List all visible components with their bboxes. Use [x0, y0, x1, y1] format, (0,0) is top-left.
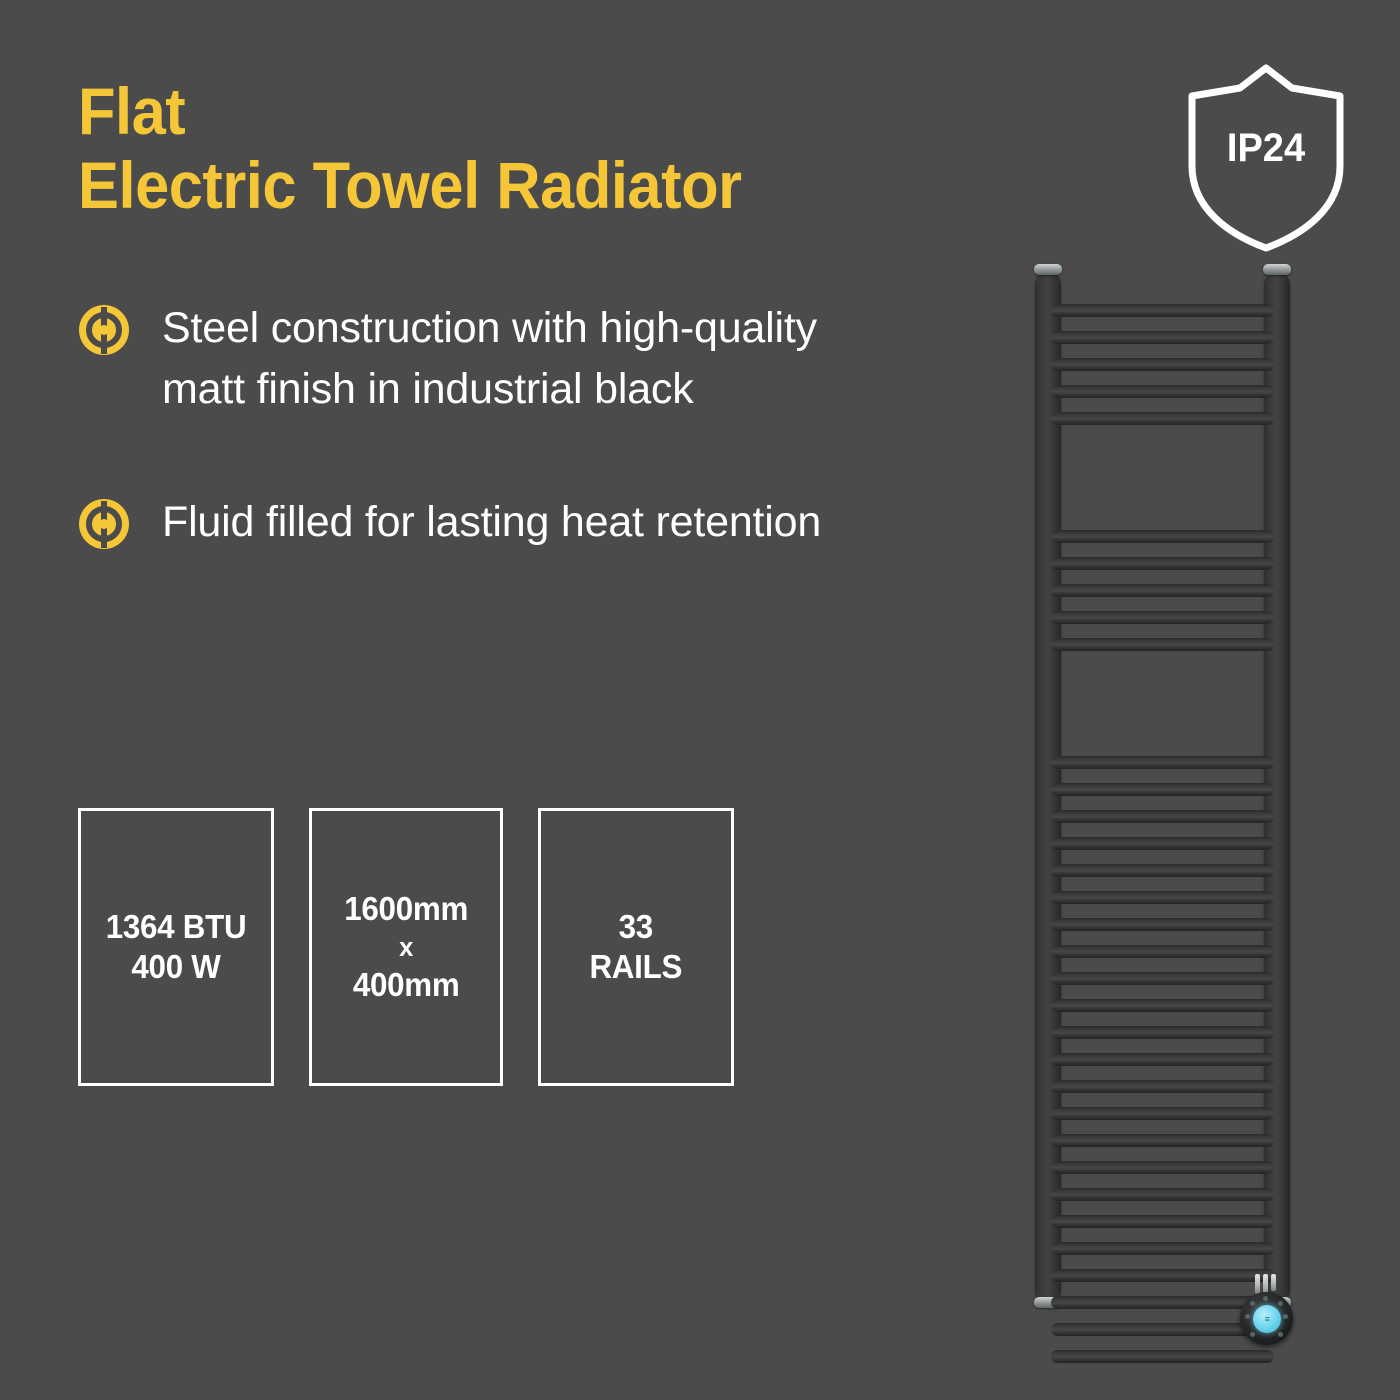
target-bullet-icon [78, 304, 130, 356]
spec-box-dimensions: 1600mm x 400mm [309, 808, 503, 1086]
thermostat-element-icon: ≡ [1235, 1274, 1297, 1352]
radiator-rail [1051, 999, 1274, 1012]
ip-rating-label: IP24 [1186, 126, 1346, 171]
spec-box-rails: 33 RAILS [538, 808, 734, 1086]
radiator-rail [1051, 783, 1274, 796]
radiator-rail [1051, 837, 1274, 850]
radiator-rail [1051, 1026, 1274, 1039]
radiator-rail [1051, 1080, 1274, 1093]
feature-item: Fluid filled for lasting heat retention [78, 492, 878, 553]
spec-line: 400 W [106, 947, 247, 987]
element-prong [1271, 1274, 1276, 1291]
radiator-rail [1051, 972, 1274, 985]
radiator-rail [1051, 358, 1274, 371]
target-bullet-icon [78, 498, 130, 550]
spec-line: 1600mm [344, 889, 468, 929]
thermostat-display: ≡ [1253, 1305, 1281, 1333]
infographic-canvas: Flat Electric Towel Radiator IP24 Steel … [0, 0, 1400, 1400]
radiator-rail [1051, 1215, 1274, 1228]
spec-line: x [344, 929, 468, 965]
spec-line: 33 [590, 907, 683, 947]
thermostat-dot [1283, 1314, 1288, 1319]
spec-box-group: 1364 BTU 400 W 1600mm x 400mm 33 RAILS [78, 808, 734, 1086]
radiator-rail [1051, 385, 1274, 398]
radiator-rail [1051, 1188, 1274, 1201]
radiator-rail [1051, 611, 1274, 624]
spec-box-output: 1364 BTU 400 W [78, 808, 274, 1086]
radiator-rail [1051, 891, 1274, 904]
radiator-rail [1051, 557, 1274, 570]
title-line-2: Electric Towel Radiator [78, 148, 896, 222]
feature-text: Fluid filled for lasting heat retention [162, 492, 821, 553]
radiator-rail [1051, 756, 1274, 769]
feature-list: Steel construction with high-quality mat… [78, 298, 878, 625]
radiator-rail [1051, 331, 1274, 344]
radiator-rail [1051, 1242, 1274, 1255]
radiator-rail [1051, 1134, 1274, 1147]
radiator-rail [1051, 1053, 1274, 1066]
radiator-rail [1051, 530, 1274, 543]
spec-line: 400mm [344, 965, 468, 1005]
element-prong [1255, 1274, 1260, 1294]
spec-line: 1364 BTU [106, 907, 247, 947]
radiator-rail [1051, 918, 1274, 931]
radiator-rail [1051, 638, 1274, 651]
radiator-rail [1051, 810, 1274, 823]
radiator-rail [1051, 864, 1274, 877]
radiator-cap-top-right [1263, 264, 1291, 275]
radiator-rail [1051, 412, 1274, 425]
feature-text: Steel construction with high-quality mat… [162, 298, 822, 420]
thermostat-dot [1263, 1296, 1268, 1301]
radiator-rail [1051, 945, 1274, 958]
spec-line: RAILS [590, 947, 683, 987]
radiator-rail [1051, 1161, 1274, 1174]
radiator-cap-top-left [1034, 264, 1062, 275]
thermostat-dot [1245, 1314, 1250, 1319]
title-line-1: Flat [78, 74, 896, 148]
thermostat-head: ≡ [1240, 1292, 1293, 1345]
page-title: Flat Electric Towel Radiator [78, 74, 958, 222]
radiator-rail [1051, 1107, 1274, 1120]
product-image-radiator: ≡ [1035, 262, 1290, 1310]
feature-item: Steel construction with high-quality mat… [78, 298, 878, 420]
radiator-rail [1051, 584, 1274, 597]
thermostat-display-glyph: ≡ [1253, 1305, 1281, 1333]
ip-rating-badge: IP24 [1182, 58, 1350, 254]
radiator-rail [1051, 304, 1274, 317]
